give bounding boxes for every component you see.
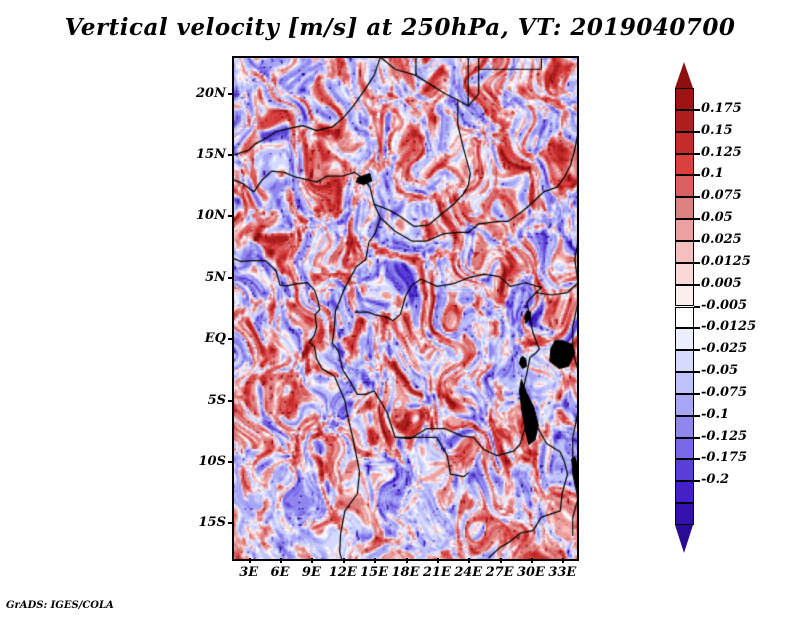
x-tick-mark	[468, 558, 470, 563]
colorbar-tick-label: -0.005	[701, 298, 747, 313]
y-tick-mark	[228, 400, 234, 402]
colorbar-tick-mark	[694, 415, 700, 417]
y-tick-label: 10N	[188, 208, 226, 223]
colorbar-tick-mark	[694, 174, 700, 176]
x-tick-mark	[500, 558, 502, 563]
colorbar-tick-mark	[694, 393, 700, 395]
x-tick-mark	[437, 558, 439, 563]
y-tick-label: 20N	[188, 86, 226, 101]
colorbar-band	[675, 307, 694, 329]
colorbar-tick-mark	[694, 109, 700, 111]
map-plot-area	[233, 57, 578, 560]
page-title: Vertical velocity [m/s] at 250hPa, VT: 2…	[0, 14, 800, 41]
colorbar-tick-mark	[694, 458, 700, 460]
colorbar-tick-label: -0.0125	[701, 319, 756, 334]
colorbar-over-arrow	[675, 62, 693, 88]
colorbar-tick-mark	[694, 327, 700, 329]
colorbar-band	[675, 350, 694, 372]
y-tick-label: 15S	[188, 515, 226, 530]
colorbar-band	[675, 328, 694, 350]
y-tick-label: 5N	[188, 270, 226, 285]
colorbar-band	[675, 241, 694, 263]
colorbar-band	[675, 219, 694, 241]
colorbar-tick-label: 0.125	[701, 145, 742, 160]
y-tick-mark	[228, 461, 234, 463]
x-tick-mark	[374, 558, 376, 563]
colorbar-band	[675, 197, 694, 219]
colorbar-tick-mark	[694, 240, 700, 242]
colorbar-tick-label: 0.075	[701, 188, 742, 203]
colorbar-band	[675, 481, 694, 503]
colorbar-tick-label: -0.1	[701, 407, 729, 422]
x-tick-mark	[280, 558, 282, 563]
colorbar-band	[675, 394, 694, 416]
colorbar-tick-label: -0.175	[701, 450, 747, 465]
colorbar-tick-label: 0.175	[701, 101, 742, 116]
colorbar-tick-mark	[694, 153, 700, 155]
colorbar-tick-label: -0.075	[701, 385, 747, 400]
colorbar-tick-label: 0.15	[701, 123, 733, 138]
x-tick-mark	[343, 558, 345, 563]
colorbar	[675, 62, 694, 553]
country-borders-overlay	[233, 57, 578, 560]
colorbar-band	[675, 503, 694, 525]
y-tick-mark	[228, 522, 234, 524]
y-tick-mark	[228, 215, 234, 217]
colorbar-tick-label: 0.0125	[701, 254, 751, 269]
y-tick-mark	[228, 277, 234, 279]
x-tick-mark	[531, 558, 533, 563]
colorbar-tick-mark	[694, 284, 700, 286]
colorbar-band	[675, 110, 694, 132]
colorbar-tick-mark	[694, 262, 700, 264]
x-tick-mark	[249, 558, 251, 563]
colorbar-band	[675, 285, 694, 307]
colorbar-band	[675, 88, 694, 110]
x-tick-mark	[406, 558, 408, 563]
colorbar-band	[675, 459, 694, 481]
y-tick-label: 10S	[188, 454, 226, 469]
colorbar-tick-mark	[694, 131, 700, 133]
colorbar-under-arrow	[675, 525, 693, 553]
colorbar-band	[675, 175, 694, 197]
y-tick-label: 5S	[188, 393, 226, 408]
colorbar-tick-mark	[694, 306, 700, 308]
x-tick-mark	[311, 558, 313, 563]
colorbar-tick-label: -0.2	[701, 472, 729, 487]
colorbar-band	[675, 416, 694, 438]
colorbar-tick-label: 0.05	[701, 210, 733, 225]
y-tick-mark	[228, 154, 234, 156]
colorbar-tick-label: 0.1	[701, 166, 724, 181]
colorbar-band	[675, 154, 694, 176]
colorbar-band	[675, 438, 694, 460]
colorbar-tick-label: 0.025	[701, 232, 742, 247]
grads-credit: GrADS: IGES/COLA	[6, 600, 114, 611]
colorbar-tick-label: -0.025	[701, 341, 747, 356]
colorbar-band	[675, 263, 694, 285]
x-tick-label: 33E	[542, 565, 582, 580]
colorbar-tick-label: -0.125	[701, 429, 747, 444]
colorbar-tick-mark	[694, 218, 700, 220]
y-tick-mark	[228, 338, 234, 340]
x-tick-mark	[562, 558, 564, 563]
colorbar-tick-label: 0.005	[701, 276, 742, 291]
colorbar-tick-mark	[694, 349, 700, 351]
colorbar-tick-mark	[694, 437, 700, 439]
colorbar-tick-mark	[694, 480, 700, 482]
colorbar-tick-label: -0.05	[701, 363, 738, 378]
colorbar-band	[675, 372, 694, 394]
colorbar-tick-mark	[694, 196, 700, 198]
y-tick-label: EQ	[188, 331, 226, 346]
y-tick-mark	[228, 93, 234, 95]
y-tick-label: 15N	[188, 147, 226, 162]
colorbar-tick-mark	[694, 371, 700, 373]
colorbar-band	[675, 132, 694, 154]
